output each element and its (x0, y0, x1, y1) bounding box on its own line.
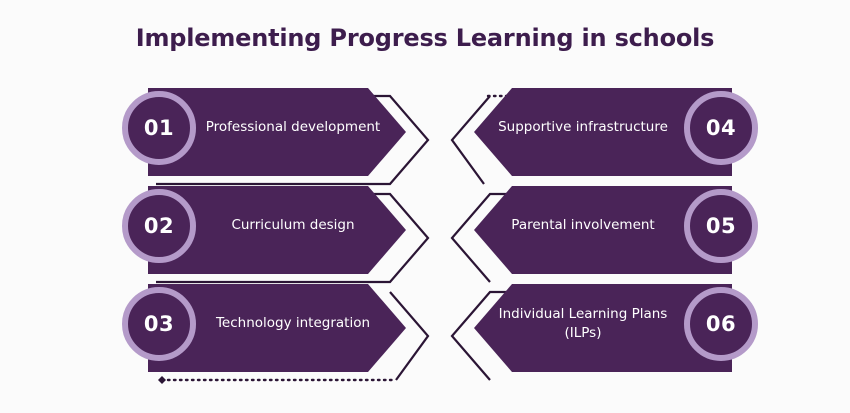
step-number-badge-03: 03 (122, 287, 196, 361)
step-number-badge-01: 01 (122, 91, 196, 165)
step-number-02: 02 (144, 216, 174, 237)
step-number-06: 06 (706, 314, 736, 335)
infographic-canvas: Implementing Progress Learning in school… (0, 0, 850, 413)
step-item-06[interactable]: 06 Individual Learning Plans (ILPs) (432, 264, 762, 384)
step-number-badge-06: 06 (684, 287, 758, 361)
step-number-01: 01 (144, 118, 174, 139)
step-number-05: 05 (706, 216, 736, 237)
page-title: Implementing Progress Learning in school… (0, 24, 850, 52)
step-number-03: 03 (144, 314, 174, 335)
step-item-03[interactable]: 03 Technology integration (118, 264, 448, 384)
step-number-badge-05: 05 (684, 189, 758, 263)
step-number-04: 04 (706, 118, 736, 139)
step-number-badge-04: 04 (684, 91, 758, 165)
diamond-endpoint-icon (158, 376, 166, 384)
step-number-badge-02: 02 (122, 189, 196, 263)
